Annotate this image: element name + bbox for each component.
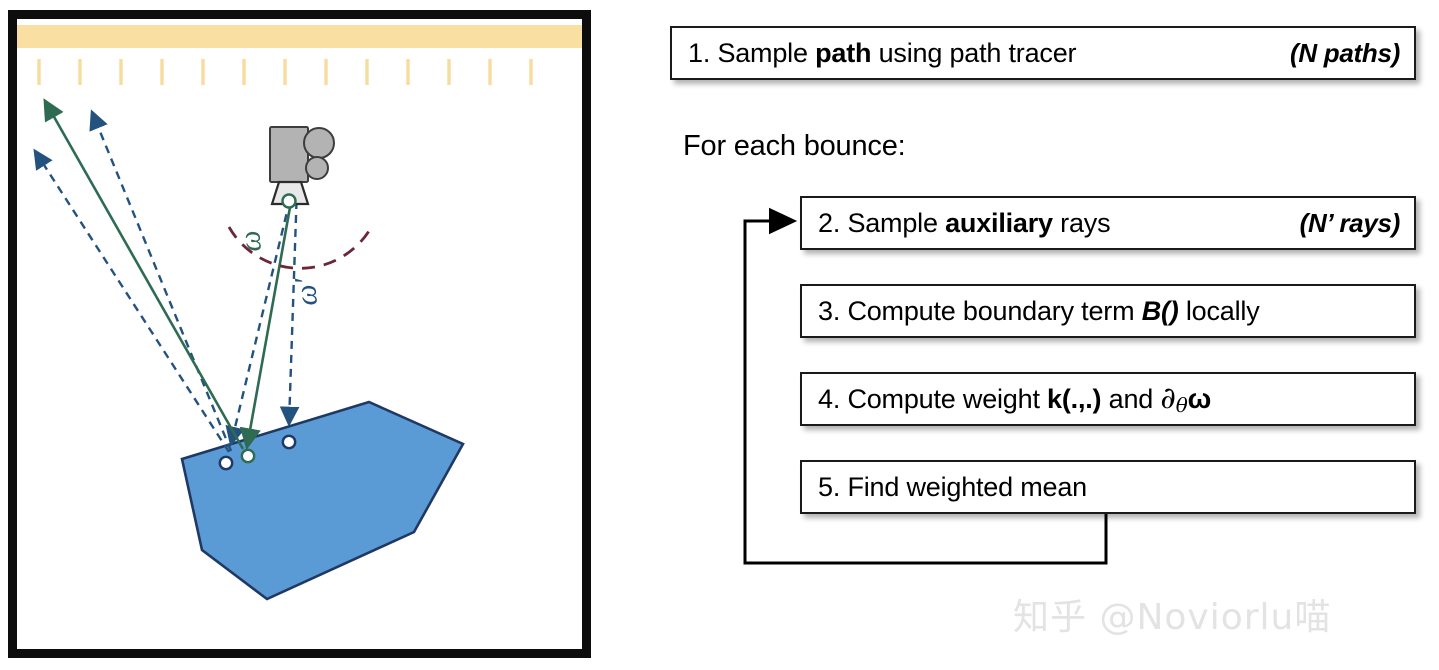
step-1-count: (N paths) bbox=[1290, 38, 1400, 69]
step-2-count: (N’ rays) bbox=[1300, 208, 1400, 239]
primary-path-rays bbox=[45, 101, 294, 449]
step-4-box[interactable]: 4. Compute weight k(.,.) and ∂θω bbox=[800, 372, 1416, 426]
diagram-panel: ω ω′ bbox=[8, 10, 591, 658]
step-4-text: 4. Compute weight k(.,.) and ∂θω bbox=[818, 384, 1211, 415]
area-light-strip bbox=[17, 25, 582, 48]
light-tick-marks bbox=[39, 59, 531, 85]
step-5-box[interactable]: 5. Find weighted mean bbox=[800, 460, 1416, 514]
step-3-text: 3. Compute boundary term B() locally bbox=[818, 298, 1260, 325]
step-5-text: 5. Find weighted mean bbox=[818, 474, 1087, 501]
step-1-text: 1. Sample path using path tracer bbox=[688, 40, 1076, 67]
step-1-box[interactable]: 1. Sample path using path tracer (N path… bbox=[670, 26, 1416, 80]
omega-symbol: ω bbox=[1188, 383, 1211, 414]
algorithm-flow-panel: 1. Sample path using path tracer (N path… bbox=[600, 0, 1439, 670]
step-2-text: 2. Sample auxiliary rays bbox=[818, 210, 1110, 237]
watermark: 知乎 @Noviorlu喵 bbox=[1013, 588, 1331, 640]
path-tracing-diagram: ω ω′ bbox=[17, 19, 582, 649]
auxiliary-rays bbox=[35, 112, 297, 452]
camera-icon bbox=[270, 127, 334, 208]
step-2-box[interactable]: 2. Sample auxiliary rays (N’ rays) bbox=[800, 196, 1416, 250]
partial-derivative-symbol: ∂ bbox=[1160, 381, 1175, 416]
omega-prime-label: ω′ bbox=[289, 276, 324, 307]
omega-label: ω bbox=[233, 229, 268, 253]
step-3-box[interactable]: 3. Compute boundary term B() locally bbox=[800, 284, 1416, 338]
for-each-bounce-label: For each bounce: bbox=[683, 130, 906, 163]
theta-subscript: θ bbox=[1176, 393, 1188, 417]
